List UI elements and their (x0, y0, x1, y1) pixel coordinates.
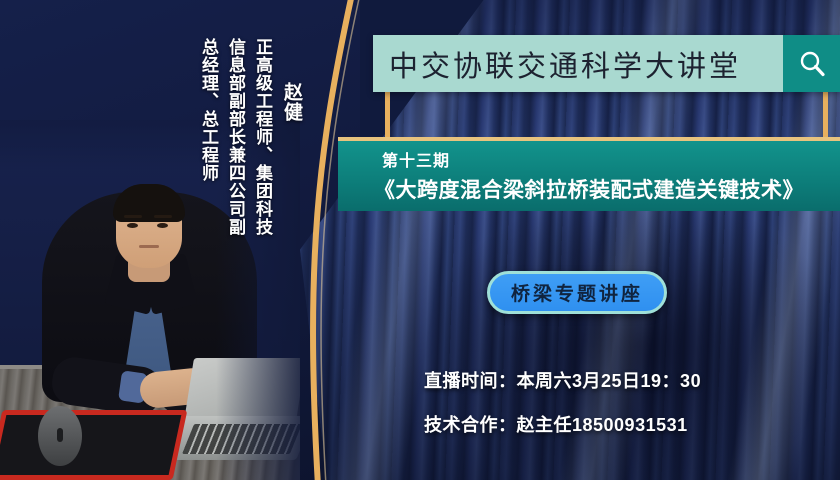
presenter-title-line-1: 正高级工程师、集团科技 (250, 38, 275, 236)
lecture-subtitle-banner: 第十三期 《大跨度混合梁斜拉桥装配式建造关键技术》 (338, 137, 840, 211)
livestream-poster: 总经理、总工程师 信息部副部长兼四公司副 正高级工程师、集团科技 赵健 中交协联… (0, 0, 840, 480)
support-post-right (823, 92, 828, 137)
issue-number: 第十三期 (382, 147, 832, 171)
lecture-title: 《大跨度混合梁斜拉桥装配式建造关键技术》 (346, 174, 832, 204)
support-post-left (385, 92, 390, 137)
program-title-banner: 中交协联交通科学大讲堂 (373, 35, 840, 92)
contact-text: 技术合作：赵主任18500931531 (424, 411, 688, 437)
presenter-name: 赵健 (278, 82, 305, 122)
banner-support-posts (373, 92, 840, 137)
live-time-text: 直播时间：本周六3月25日19：30 (424, 367, 701, 393)
topic-tag-button[interactable]: 桥梁专题讲座 (487, 271, 667, 314)
search-button[interactable] (783, 35, 840, 92)
program-title-text: 中交协联交通科学大讲堂 (373, 43, 783, 85)
presenter-title-line-3: 总经理、总工程师 (196, 38, 221, 182)
search-icon (797, 49, 827, 79)
presenter-title-line-2: 信息部副部长兼四公司副 (223, 38, 248, 236)
